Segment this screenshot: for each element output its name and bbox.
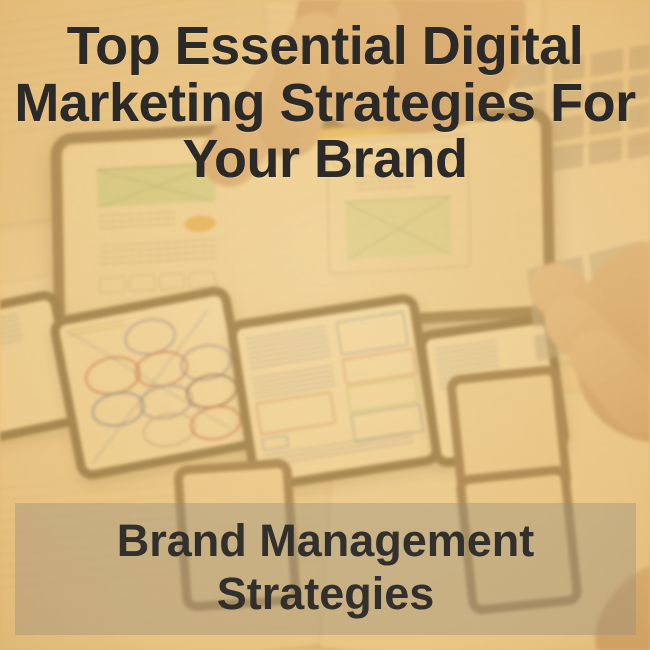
blog-header-graphic: Top Essential Digital Marketing Strategi… xyxy=(0,0,650,650)
title-line-3: Your Brand xyxy=(10,131,640,188)
bottom-banner: Brand Management Strategies xyxy=(15,503,636,635)
title-line-2: Marketing Strategies For xyxy=(10,75,640,132)
banner-line-1: Brand Management xyxy=(15,514,636,567)
title-line-1: Top Essential Digital xyxy=(10,18,640,75)
page-title: Top Essential Digital Marketing Strategi… xyxy=(0,18,650,188)
banner-line-2: Strategies xyxy=(15,567,636,620)
banner-caption: Brand Management Strategies xyxy=(15,514,636,620)
